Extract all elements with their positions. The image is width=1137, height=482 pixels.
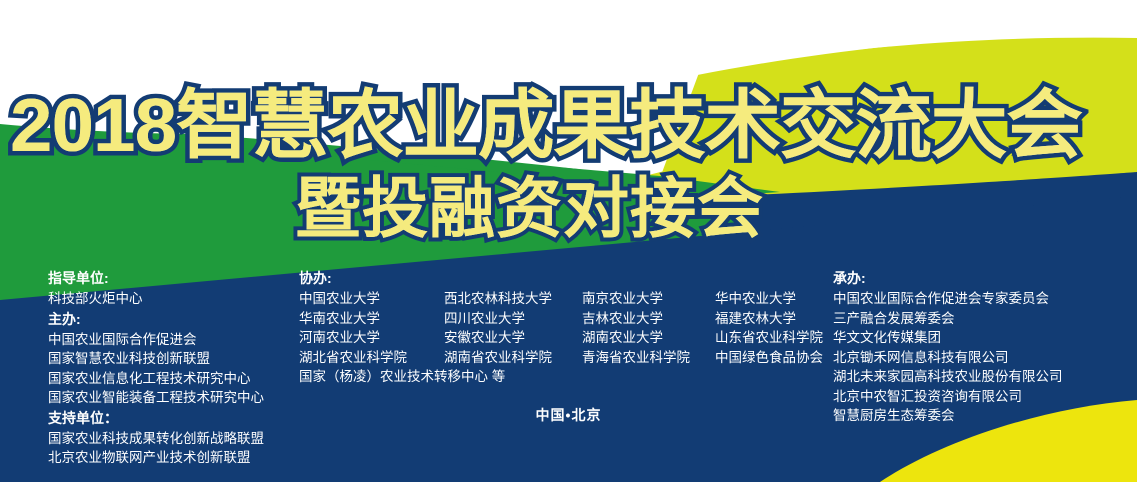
- guide-item: 中国农业国际合作促进会: [48, 330, 264, 350]
- guide-item: 国家智慧农业科技创新联盟: [48, 349, 264, 369]
- guide-item: 北京农业物联网产业技术创新联盟: [48, 448, 264, 468]
- host-item: 中国农业国际合作促进会专家委员会: [833, 289, 1063, 309]
- host-item: 北京锄禾网信息科技有限公司: [833, 348, 1063, 368]
- coorganizer-item: 青海省农业科学院: [582, 348, 715, 368]
- coorganizer-item: 华南农业大学: [299, 309, 444, 329]
- guide-heading-2: 主办:: [48, 309, 264, 330]
- guide-item: 国家农业信息化工程技术研究中心: [48, 369, 264, 389]
- host-column: 承办: 中国农业国际合作促进会专家委员会 三产融合发展筹委会 华文文化传媒集团 …: [833, 268, 1063, 426]
- coorganizer-item: 中国农业大学: [299, 289, 444, 309]
- guide-item: 国家农业科技成果转化创新战略联盟: [48, 429, 264, 449]
- coorganizer-item: 河南农业大学: [299, 328, 444, 348]
- guide-heading-1: 指导单位:: [48, 268, 264, 289]
- coorganizer-item: 吉林农业大学: [582, 309, 715, 329]
- location-label: 中国•北京: [0, 405, 1137, 425]
- host-item: 北京中农智汇投资咨询有限公司: [833, 387, 1063, 407]
- coorganizer-item: 中国绿色食品协会: [715, 348, 823, 368]
- coorganizer-item: 山东省农业科学院: [715, 328, 823, 348]
- coorganizer-item: 湖南省农业科学院: [444, 348, 582, 368]
- coorganizer-column: 协办:: [299, 268, 332, 289]
- host-heading: 承办:: [833, 268, 1063, 289]
- coorganizer-item: 西北农林科技大学: [444, 289, 582, 309]
- host-item: 湖北未来家园高科技农业股份有限公司: [833, 367, 1063, 387]
- guide-item: 科技部火炬中心: [48, 289, 264, 309]
- coorganizer-item: 四川农业大学: [444, 309, 582, 329]
- host-item: 华文文化传媒集团: [833, 328, 1063, 348]
- coorganizer-item: 南京农业大学: [582, 289, 715, 309]
- coorganizer-item: 湖南农业大学: [582, 328, 715, 348]
- credits-area: 指导单位: 科技部火炬中心 主办: 中国农业国际合作促进会 国家智慧农业科技创新…: [0, 0, 1137, 482]
- coorganizer-item: 安徽农业大学: [444, 328, 582, 348]
- coorganizer-heading: 协办:: [299, 268, 332, 289]
- coorganizer-item: 湖北省农业科学院: [299, 348, 444, 368]
- conference-banner: 2018智慧农业成果技术交流大会 2018智慧农业成果技术交流大会 暨投融资对接…: [0, 0, 1137, 482]
- guide-column: 指导单位: 科技部火炬中心 主办: 中国农业国际合作促进会 国家智慧农业科技创新…: [48, 268, 264, 468]
- host-item: 三产融合发展筹委会: [833, 309, 1063, 329]
- coorganizer-grid: 中国农业大学 西北农林科技大学 南京农业大学 华中农业大学 华南农业大学 四川农…: [299, 289, 823, 367]
- coorganizer-item: 华中农业大学: [715, 289, 823, 309]
- coorganizer-item: 福建农林大学: [715, 309, 823, 329]
- coorganizer-tail-item: 国家（杨凌）农业技术转移中心 等: [299, 367, 505, 387]
